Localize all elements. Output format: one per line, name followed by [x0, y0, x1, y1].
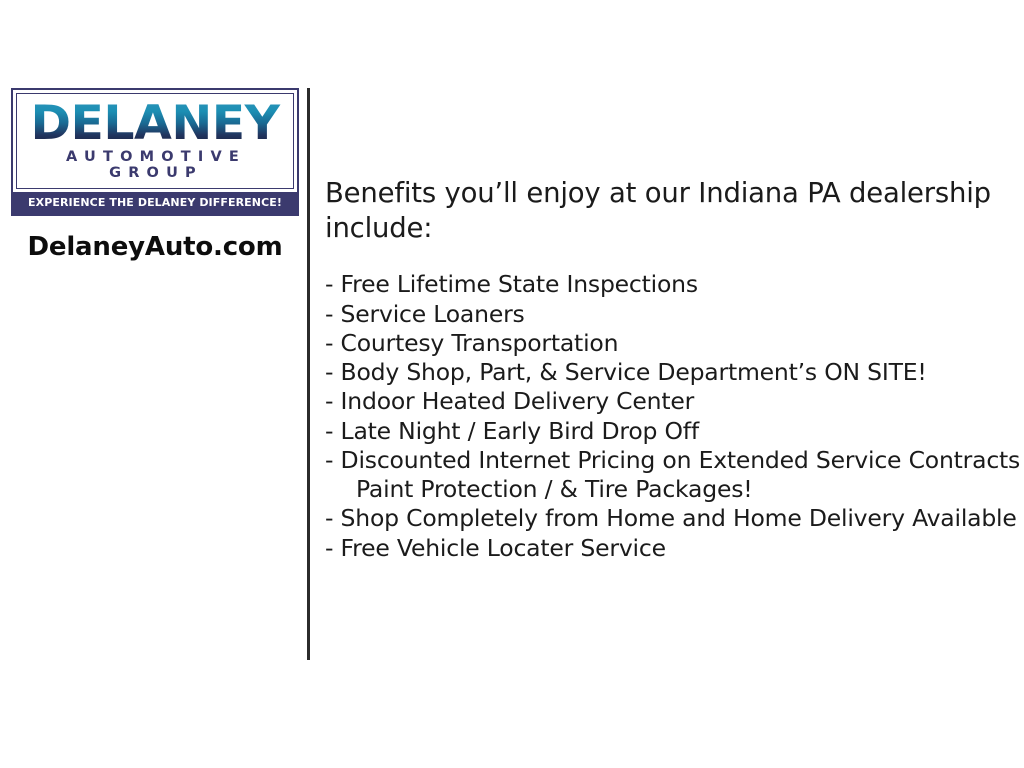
dealer-logo-block: DELANEY AUTOMOTIVE GROUP EXPERIENCE THE …: [11, 88, 299, 262]
logo-subtitle: AUTOMOTIVE GROUP: [27, 149, 285, 181]
list-item: - Shop Completely from Home and Home Del…: [325, 504, 1010, 533]
page-title: Benefits you’ll enjoy at our Indiana PA …: [325, 176, 1010, 246]
list-item: - Body Shop, Part, & Service Department’…: [325, 358, 1010, 387]
vertical-divider: [307, 88, 310, 660]
list-item: - Courtesy Transportation: [325, 329, 1010, 358]
logo-tagline-bar: EXPERIENCE THE DELANEY DIFFERENCE!: [13, 192, 297, 214]
list-item: - Discounted Internet Pricing on Extende…: [325, 446, 1010, 475]
list-item: - Service Loaners: [325, 300, 1010, 329]
list-item: - Late Night / Early Bird Drop Off: [325, 417, 1010, 446]
dealer-website-url: DelaneyAuto.com: [11, 232, 299, 262]
list-item: - Free Vehicle Locater Service: [325, 534, 1010, 563]
list-item: - Free Lifetime State Inspections: [325, 270, 1010, 299]
list-item: - Indoor Heated Delivery Center: [325, 387, 1010, 416]
logo-wordmark: DELANEY: [20, 101, 290, 147]
list-item: Paint Protection / & Tire Packages!: [325, 475, 1010, 504]
benefits-list: - Free Lifetime State Inspections- Servi…: [325, 270, 1010, 563]
logo-card: DELANEY AUTOMOTIVE GROUP EXPERIENCE THE …: [11, 88, 299, 216]
logo-card-inner: DELANEY AUTOMOTIVE GROUP: [16, 93, 294, 189]
slide-canvas: DELANEY AUTOMOTIVE GROUP EXPERIENCE THE …: [0, 0, 1024, 768]
content-column: Benefits you’ll enjoy at our Indiana PA …: [325, 176, 1010, 563]
